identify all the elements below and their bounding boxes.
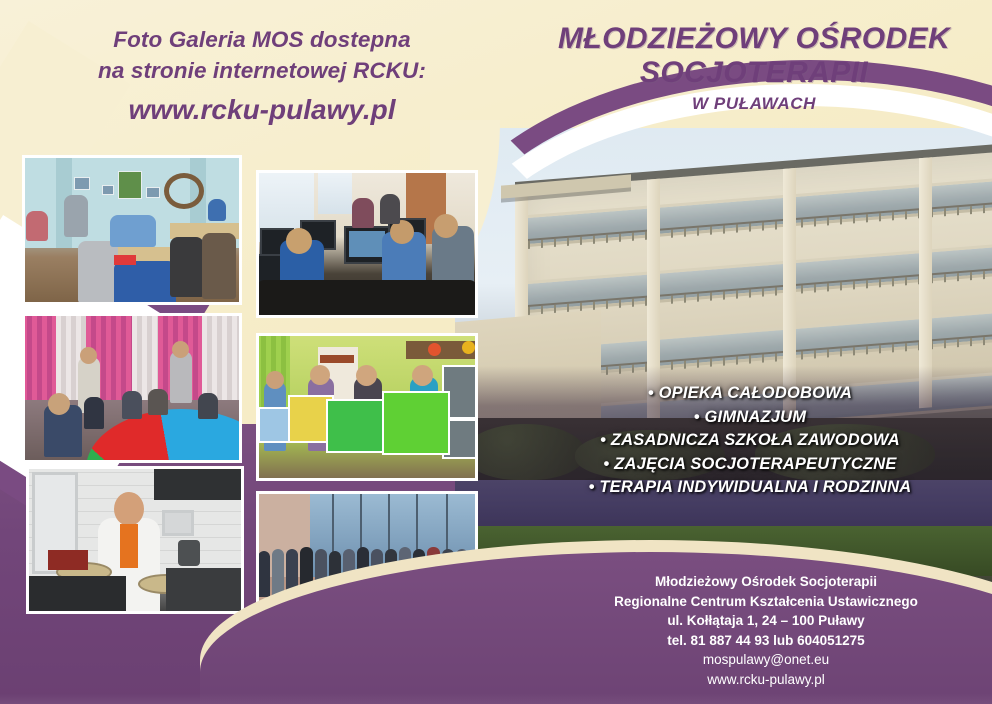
offer-item: • OPIEKA CAŁODOBOWA — [520, 382, 980, 406]
contact-phone[interactable]: tel. 81 887 44 93 lub 604051275 — [540, 631, 992, 651]
contact-block: Młodzieżowy Ośrodek Socjoterapii Regiona… — [540, 572, 992, 689]
computer-lab-photo — [256, 170, 478, 318]
main-building-photo — [455, 128, 992, 586]
kitchen-cook-photo — [26, 466, 244, 614]
offer-list: • OPIEKA CAŁODOBOWA • GIMNAZJUM • ZASADN… — [520, 382, 980, 500]
institution-title-city: W PUŁAWACH — [520, 91, 988, 117]
parachute-game-photo — [22, 313, 242, 463]
gallery-header: Foto Galeria MOS dostepna na stronie int… — [62, 24, 462, 130]
institution-title: MŁODZIEŻOWY OŚRODEK SOCJOTERAPII W PUŁAW… — [520, 22, 988, 117]
gallery-website-url[interactable]: www.rcku-pulawy.pl — [62, 90, 462, 130]
offer-item: • GIMNAZJUM — [520, 406, 980, 430]
poster-root: Foto Galeria MOS dostepna na stronie int… — [0, 0, 992, 704]
photo-frame — [22, 155, 242, 305]
photo-frame — [256, 333, 478, 481]
bottom-edge-fade — [0, 694, 992, 704]
contact-email[interactable]: mospulawy@onet.eu — [540, 650, 992, 670]
offer-item: • TERAPIA INDYWIDUALNA I RODZINNA — [520, 476, 980, 500]
offer-item: • ZASADNICZA SZKOŁA ZAWODOWA — [520, 429, 980, 453]
offer-item: • ZAJĘCIA SOCJOTERAPEUTYCZNE — [520, 453, 980, 477]
gallery-header-line1: Foto Galeria MOS dostepna — [62, 24, 462, 55]
classroom-workshop-photo — [22, 155, 242, 305]
contact-org-name: Młodzieżowy Ośrodek Socjoterapii — [540, 572, 992, 592]
photo-frame — [26, 466, 244, 614]
contact-website[interactable]: www.rcku-pulawy.pl — [540, 670, 992, 690]
health-posters-photo — [256, 333, 478, 481]
contact-org-parent: Regionalne Centrum Kształcenia Ustawiczn… — [540, 592, 992, 612]
photo-frame — [22, 313, 242, 463]
contact-address: ul. Kołłątaja 1, 24 – 100 Puławy — [540, 611, 992, 631]
gallery-header-line2: na stronie internetowej RCKU: — [62, 55, 462, 86]
photo-frame — [256, 170, 478, 318]
institution-title-line1: MŁODZIEŻOWY OŚRODEK — [520, 22, 988, 56]
institution-title-line2: SOCJOTERAPII — [520, 56, 988, 90]
